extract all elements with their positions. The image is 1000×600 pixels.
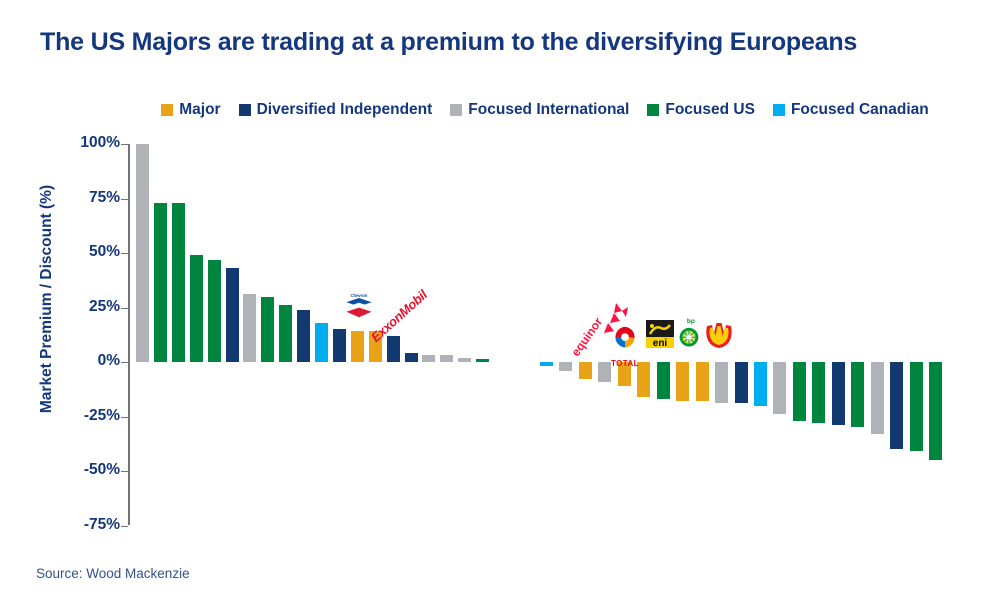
bar[interactable] — [226, 268, 239, 362]
bar[interactable] — [172, 203, 185, 362]
bar[interactable] — [440, 355, 453, 362]
bar[interactable] — [405, 353, 418, 362]
bar-series — [0, 0, 1000, 600]
bar[interactable] — [579, 362, 592, 379]
bar[interactable] — [243, 294, 256, 362]
bar[interactable] — [754, 362, 767, 406]
bar[interactable] — [458, 358, 471, 362]
bar[interactable] — [540, 362, 553, 366]
bar[interactable] — [387, 336, 400, 362]
bar[interactable] — [598, 362, 611, 382]
bar[interactable] — [136, 144, 149, 362]
bar[interactable] — [422, 355, 435, 362]
bar[interactable] — [559, 362, 572, 371]
bar[interactable] — [890, 362, 903, 449]
bar[interactable] — [190, 255, 203, 362]
bar[interactable] — [208, 260, 221, 362]
bar[interactable] — [657, 362, 670, 399]
bar[interactable] — [676, 362, 689, 401]
bar[interactable] — [333, 329, 346, 362]
bar[interactable] — [851, 362, 864, 427]
bar[interactable] — [637, 362, 650, 397]
bar[interactable] — [910, 362, 923, 451]
bar[interactable] — [315, 323, 328, 362]
bar[interactable] — [929, 362, 942, 460]
bar[interactable] — [618, 362, 631, 386]
bar[interactable] — [832, 362, 845, 425]
source-note: Source: Wood Mackenzie — [36, 566, 190, 581]
chart-page: The US Majors are trading at a premium t… — [0, 0, 1000, 600]
bar[interactable] — [871, 362, 884, 434]
bar[interactable] — [261, 297, 274, 362]
bar[interactable] — [735, 362, 748, 403]
bar[interactable] — [369, 331, 382, 362]
bar[interactable] — [696, 362, 709, 401]
bar[interactable] — [351, 331, 364, 362]
bar[interactable] — [793, 362, 806, 421]
bar[interactable] — [476, 359, 489, 362]
bar[interactable] — [297, 310, 310, 362]
bar[interactable] — [812, 362, 825, 423]
bar[interactable] — [279, 305, 292, 362]
bar[interactable] — [154, 203, 167, 362]
bar[interactable] — [715, 362, 728, 403]
bar[interactable] — [773, 362, 786, 414]
